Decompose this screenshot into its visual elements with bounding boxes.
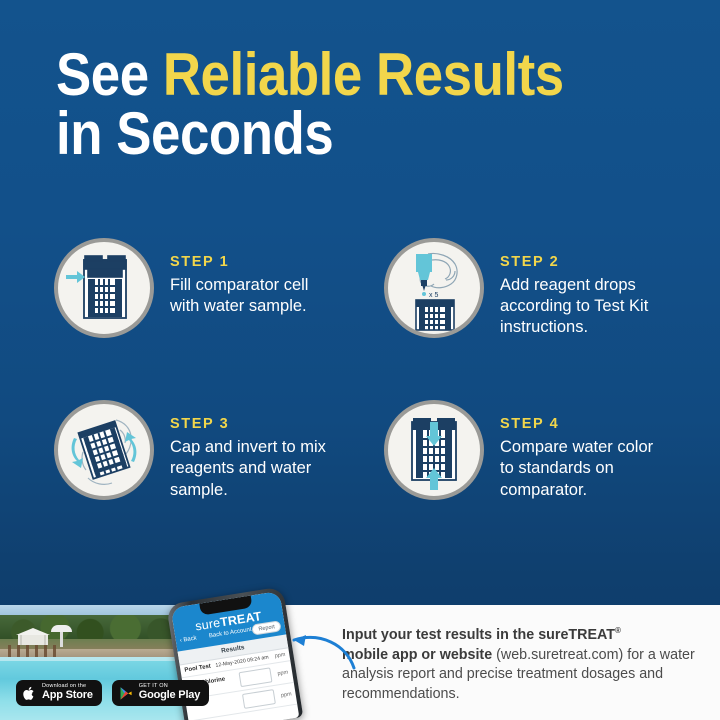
steps-row-1: STEP 1 Fill comparator cell with water s… bbox=[54, 238, 714, 338]
step-item-4: STEP 4 Compare water color to standards … bbox=[384, 400, 714, 500]
app-store-badges: Download on the App Store GET IT ON Goog… bbox=[16, 680, 209, 706]
steps-row-2: STEP 3 Cap and invert to mix reagents an… bbox=[54, 400, 714, 500]
app-store-badge[interactable]: Download on the App Store bbox=[16, 680, 102, 706]
promo-poster: See Reliable Results in Seconds bbox=[0, 0, 720, 720]
step-2-icon-wrap: x 5 bbox=[384, 238, 484, 338]
app-unit-label-3: ppm bbox=[277, 691, 292, 699]
cta-bold-2: mobile app or website bbox=[342, 647, 496, 663]
step-item-1: STEP 1 Fill comparator cell with water s… bbox=[54, 238, 384, 338]
app-store-badge-big: App Store bbox=[42, 690, 93, 702]
step-3-icon-wrap bbox=[54, 400, 154, 500]
step-1-text: STEP 1 Fill comparator cell with water s… bbox=[170, 238, 330, 317]
headline-line-1: See Reliable Results bbox=[56, 46, 602, 105]
google-play-badge[interactable]: GET IT ON Google Play bbox=[112, 680, 209, 706]
callout-arrow-icon bbox=[250, 628, 360, 672]
headline-line-2: in Seconds bbox=[56, 105, 602, 164]
step-4-label: STEP 4 bbox=[500, 416, 660, 432]
step-4-body: Compare water color to standards on comp… bbox=[500, 437, 660, 500]
steps-section: STEP 1 Fill comparator cell with water s… bbox=[54, 238, 714, 501]
headline-yellow-text: Reliable Results bbox=[163, 41, 564, 108]
app-test-name: Pool Test bbox=[184, 663, 213, 673]
step-2-body: Add reagent drops according to Test Kit … bbox=[500, 275, 660, 338]
apple-icon bbox=[23, 686, 36, 701]
step-4-icon-wrap bbox=[384, 400, 484, 500]
cta-bold-text: Input your test results in the sureTREAT bbox=[342, 627, 615, 643]
compare-color-icon bbox=[384, 400, 484, 500]
registered-mark: ® bbox=[615, 626, 621, 635]
step-1-label: STEP 1 bbox=[170, 254, 330, 270]
app-store-badge-text: Download on the App Store bbox=[42, 684, 93, 701]
step-2-text: STEP 2 Add reagent drops according to Te… bbox=[500, 238, 660, 338]
comparator-cell-fill-icon bbox=[54, 238, 154, 338]
google-play-badge-big: Google Play bbox=[139, 690, 200, 702]
step-3-text: STEP 3 Cap and invert to mix reagents an… bbox=[170, 400, 330, 500]
bottom-band: Download on the App Store GET IT ON Goog… bbox=[0, 605, 720, 720]
headline-white-text: See bbox=[56, 41, 163, 108]
photo-gazebo bbox=[14, 627, 52, 647]
step-2-label: STEP 2 bbox=[500, 254, 660, 270]
cta-bold-1: Input your test results in the sureTREAT… bbox=[342, 627, 621, 643]
step-1-body: Fill comparator cell with water sample. bbox=[170, 275, 330, 317]
step-3-label: STEP 3 bbox=[170, 416, 330, 432]
app-param-input-2[interactable] bbox=[242, 689, 276, 709]
invert-mix-icon bbox=[54, 400, 154, 500]
google-play-badge-text: GET IT ON Google Play bbox=[139, 684, 200, 701]
photo-pool-edge bbox=[0, 657, 196, 661]
reagent-dropper-icon: x 5 bbox=[384, 238, 484, 338]
step-item-3: STEP 3 Cap and invert to mix reagents an… bbox=[54, 400, 384, 500]
step-4-text: STEP 4 Compare water color to standards … bbox=[500, 400, 660, 500]
svg-text:x 5: x 5 bbox=[429, 292, 438, 299]
step-item-2: x 5 bbox=[384, 238, 714, 338]
google-play-icon bbox=[119, 686, 133, 701]
step-3-body: Cap and invert to mix reagents and water… bbox=[170, 437, 330, 500]
app-back-button[interactable]: ‹ Back bbox=[179, 636, 197, 645]
photo-umbrella bbox=[60, 629, 63, 647]
page-title: See Reliable Results in Seconds bbox=[56, 46, 602, 164]
cta-text: Input your test results in the sureTREAT… bbox=[342, 626, 698, 704]
step-1-icon-wrap bbox=[54, 238, 154, 338]
